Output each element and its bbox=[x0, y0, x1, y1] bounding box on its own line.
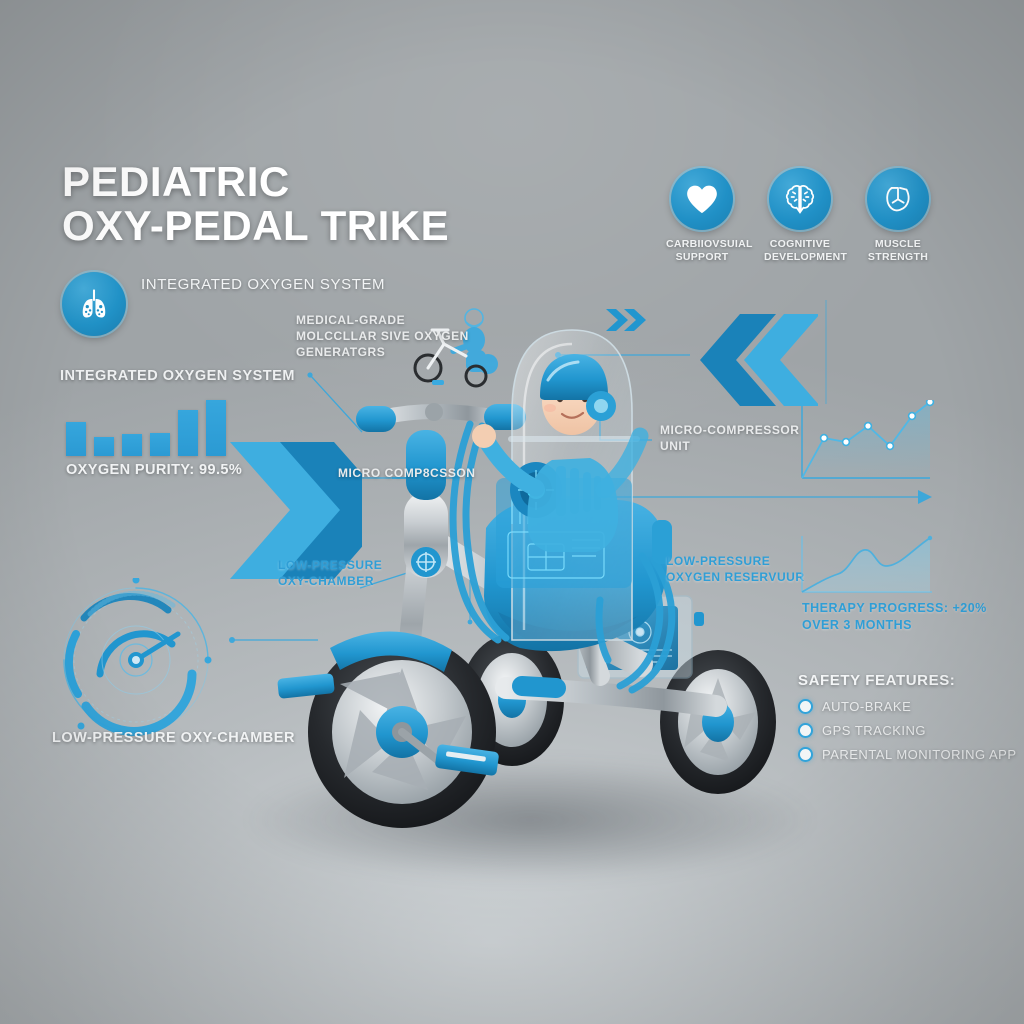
safety-item-label: AUTO-BRAKE bbox=[822, 699, 911, 714]
safety-features-panel: SAFETY FEATURES: AUTO-BRAKE GPS TRACKING… bbox=[798, 672, 1018, 771]
performance-line-chart bbox=[790, 400, 940, 495]
infographic-canvas: PEDIATRIC OXY-PEDAL TRIKE CARBIIOVSUIAL … bbox=[0, 0, 1024, 1024]
callout-medical-grade: MEDICAL-GRADE MOLCCLLAR SIVE OXYGEN GENE… bbox=[296, 313, 469, 360]
line-chart-graphic bbox=[790, 400, 940, 490]
callout-micro-compression: MICRO COMP8CSSON bbox=[338, 466, 475, 482]
callout-low-pressure-oxy-chamber: LOW-PRESSURE OXY-CHAMBER bbox=[278, 558, 382, 590]
safety-item-gps-tracking[interactable]: GPS TRACKING bbox=[798, 723, 1018, 738]
therapy-progress-caption: THERAPY PROGRESS: +20% OVER 3 MONTHS bbox=[802, 600, 1017, 634]
bullet-icon bbox=[798, 747, 813, 762]
front-wheel bbox=[277, 631, 499, 828]
safety-item-parental-monitoring-app[interactable]: PARENTAL MONITORING APP bbox=[798, 747, 1018, 762]
trike-product-illustration bbox=[0, 0, 1024, 1024]
therapy-progress-chart bbox=[790, 534, 940, 605]
callout-low-pressure-oxygen-reservoir: LOW-PRESSURE OXYGEN RESERVUUR bbox=[666, 554, 805, 586]
safety-item-label: GPS TRACKING bbox=[822, 723, 926, 738]
bullet-icon bbox=[798, 723, 813, 738]
area-chart-graphic bbox=[790, 534, 940, 600]
handlebar-grip-left bbox=[356, 406, 396, 432]
callout-micro-compressor-unit: MICRO-COMPRESSOR UNIT bbox=[660, 423, 799, 455]
safety-item-label: PARENTAL MONITORING APP bbox=[822, 747, 1017, 762]
handlebar bbox=[356, 403, 526, 432]
safety-features-title: SAFETY FEATURES: bbox=[798, 672, 1018, 689]
bullet-icon bbox=[798, 699, 813, 714]
safety-item-auto-brake[interactable]: AUTO-BRAKE bbox=[798, 699, 1018, 714]
